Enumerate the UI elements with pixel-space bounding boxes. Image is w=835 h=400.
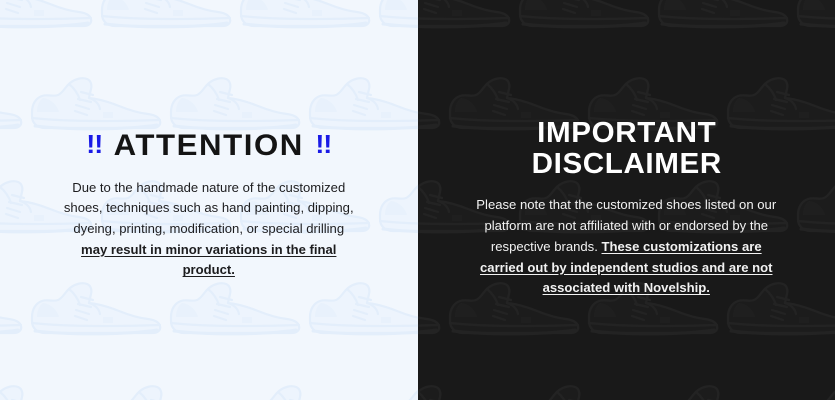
attention-body-normal: Due to the handmade nature of the custom… — [64, 180, 354, 236]
attention-content: !!ATTENTION!! Due to the handmade nature… — [0, 0, 418, 281]
attention-body-emphasis: may result in minor variations in the fi… — [81, 242, 336, 278]
disclaimer-banner: !!ATTENTION!! Due to the handmade nature… — [0, 0, 835, 400]
disclaimer-body: Please note that the customized shoes li… — [468, 195, 784, 298]
disclaimer-panel: IMPORTANT DISCLAIMER Please note that th… — [418, 0, 835, 400]
attention-panel: !!ATTENTION!! Due to the handmade nature… — [0, 0, 418, 400]
attention-bang-left-icon: !! — [86, 129, 102, 159]
disclaimer-heading-line2: DISCLAIMER — [436, 149, 817, 180]
disclaimer-content: IMPORTANT DISCLAIMER Please note that th… — [418, 0, 835, 299]
disclaimer-heading: IMPORTANT DISCLAIMER — [436, 118, 817, 179]
attention-body: Due to the handmade nature of the custom… — [59, 178, 359, 281]
attention-heading-text: ATTENTION — [114, 129, 304, 162]
attention-heading: !!ATTENTION!! — [15, 131, 403, 162]
disclaimer-heading-line1: IMPORTANT — [436, 118, 817, 149]
attention-bang-right-icon: !! — [315, 129, 331, 159]
